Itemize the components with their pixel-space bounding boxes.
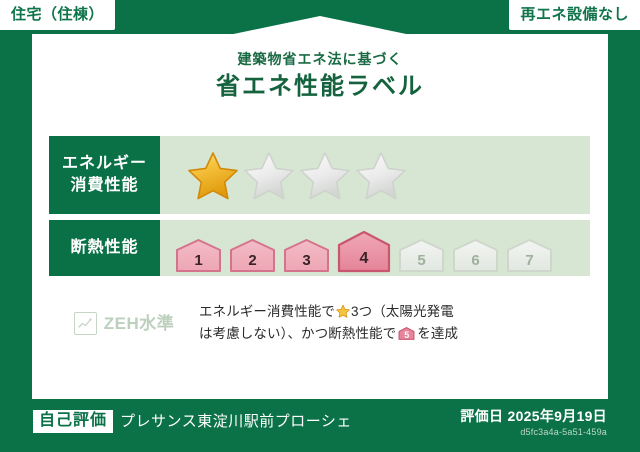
insulation-label-line1: 断熱性能 [70,237,138,259]
insulation-level-4-achieved: 4 [336,229,392,274]
zeh-desc-line2-part2: を達成 [417,326,458,341]
footer-left: 自己評価 プレサンス東淀川駅前プローシェ [33,410,352,433]
housing-type-badge: 住宅（住棟） [0,0,115,30]
star-empty-3 [299,150,351,200]
evaluation-date-value: 2025年9月19日 [507,408,607,424]
insulation-level-1: 1 [174,237,223,274]
energy-performance-label: 住宅（住棟） 再エネ設備なし 建築物省エネ法に基づく 省エネ性能ラベル エネルギ… [0,0,640,452]
footer: 自己評価 プレサンス東淀川駅前プローシェ 評価日 2025年9月19日 d5fc… [0,399,640,452]
insulation-level-6: 6 [451,237,500,274]
insulation-performance-row: 断熱性能 1 [49,220,590,276]
energy-consumption-row: エネルギー 消費性能 [49,136,590,214]
insulation-performance-label: 断熱性能 [49,220,160,276]
star-empty-4 [355,150,407,200]
title-block: 建築物省エネ法に基づく 省エネ性能ラベル [32,51,608,102]
energy-consumption-label: エネルギー 消費性能 [49,136,160,214]
energy-label-line2: 消費性能 [70,175,138,197]
zeh-desc-part2: 3つ（太陽光発電 [351,304,454,319]
footer-right: 評価日 2025年9月19日 d5fc3a4a-5a51-459a [460,408,607,438]
evaluation-date-label: 評価日 [460,408,503,424]
zeh-standard-row: ZEH水準 エネルギー消費性能で3つ（太陽光発電は考慮しない）、かつ断熱性能で5… [49,290,590,356]
page-title: 省エネ性能ラベル [32,73,608,102]
zeh-description: エネルギー消費性能で3つ（太陽光発電は考慮しない）、かつ断熱性能で5を達成 [199,301,590,346]
evaluation-date: 評価日 2025年9月19日 [460,408,607,425]
energy-consumption-value [160,136,590,214]
insulation-level-2: 2 [228,237,277,274]
inline-house-number: 5 [398,331,415,340]
star-empty-2 [243,150,295,200]
evaluation-id: d5fc3a4a-5a51-459a [460,427,607,438]
zeh-mark: ZEH水準 [49,312,199,335]
energy-label-line1: エネルギー [62,153,147,175]
star-filled-1 [187,150,239,200]
zeh-label: ZEH水準 [104,315,175,332]
inline-star-icon [336,303,350,317]
title-subtitle: 建築物省エネ法に基づく [32,51,608,68]
star-rating [160,150,407,200]
card-content: 建築物省エネ法に基づく 省エネ性能ラベル エネルギー 消費性能 [32,34,608,399]
insulation-performance-value: 1 2 3 [160,220,590,276]
insulation-level-7: 7 [505,237,554,274]
inline-house-icon: 5 [398,326,415,341]
insulation-level-3: 3 [282,237,331,274]
zeh-desc-line2-part1: は考慮しない）、かつ断熱性能で [199,326,396,341]
zeh-chart-icon [74,312,97,335]
zeh-desc-part1: エネルギー消費性能で [199,304,335,319]
evaluation-type-badge: 自己評価 [33,410,113,433]
insulation-level-scale: 1 2 3 [160,218,554,279]
building-name: プレサンス東淀川駅前プローシェ [120,414,352,429]
renewable-equipment-badge: 再エネ設備なし [509,0,640,30]
insulation-level-5: 5 [397,237,446,274]
